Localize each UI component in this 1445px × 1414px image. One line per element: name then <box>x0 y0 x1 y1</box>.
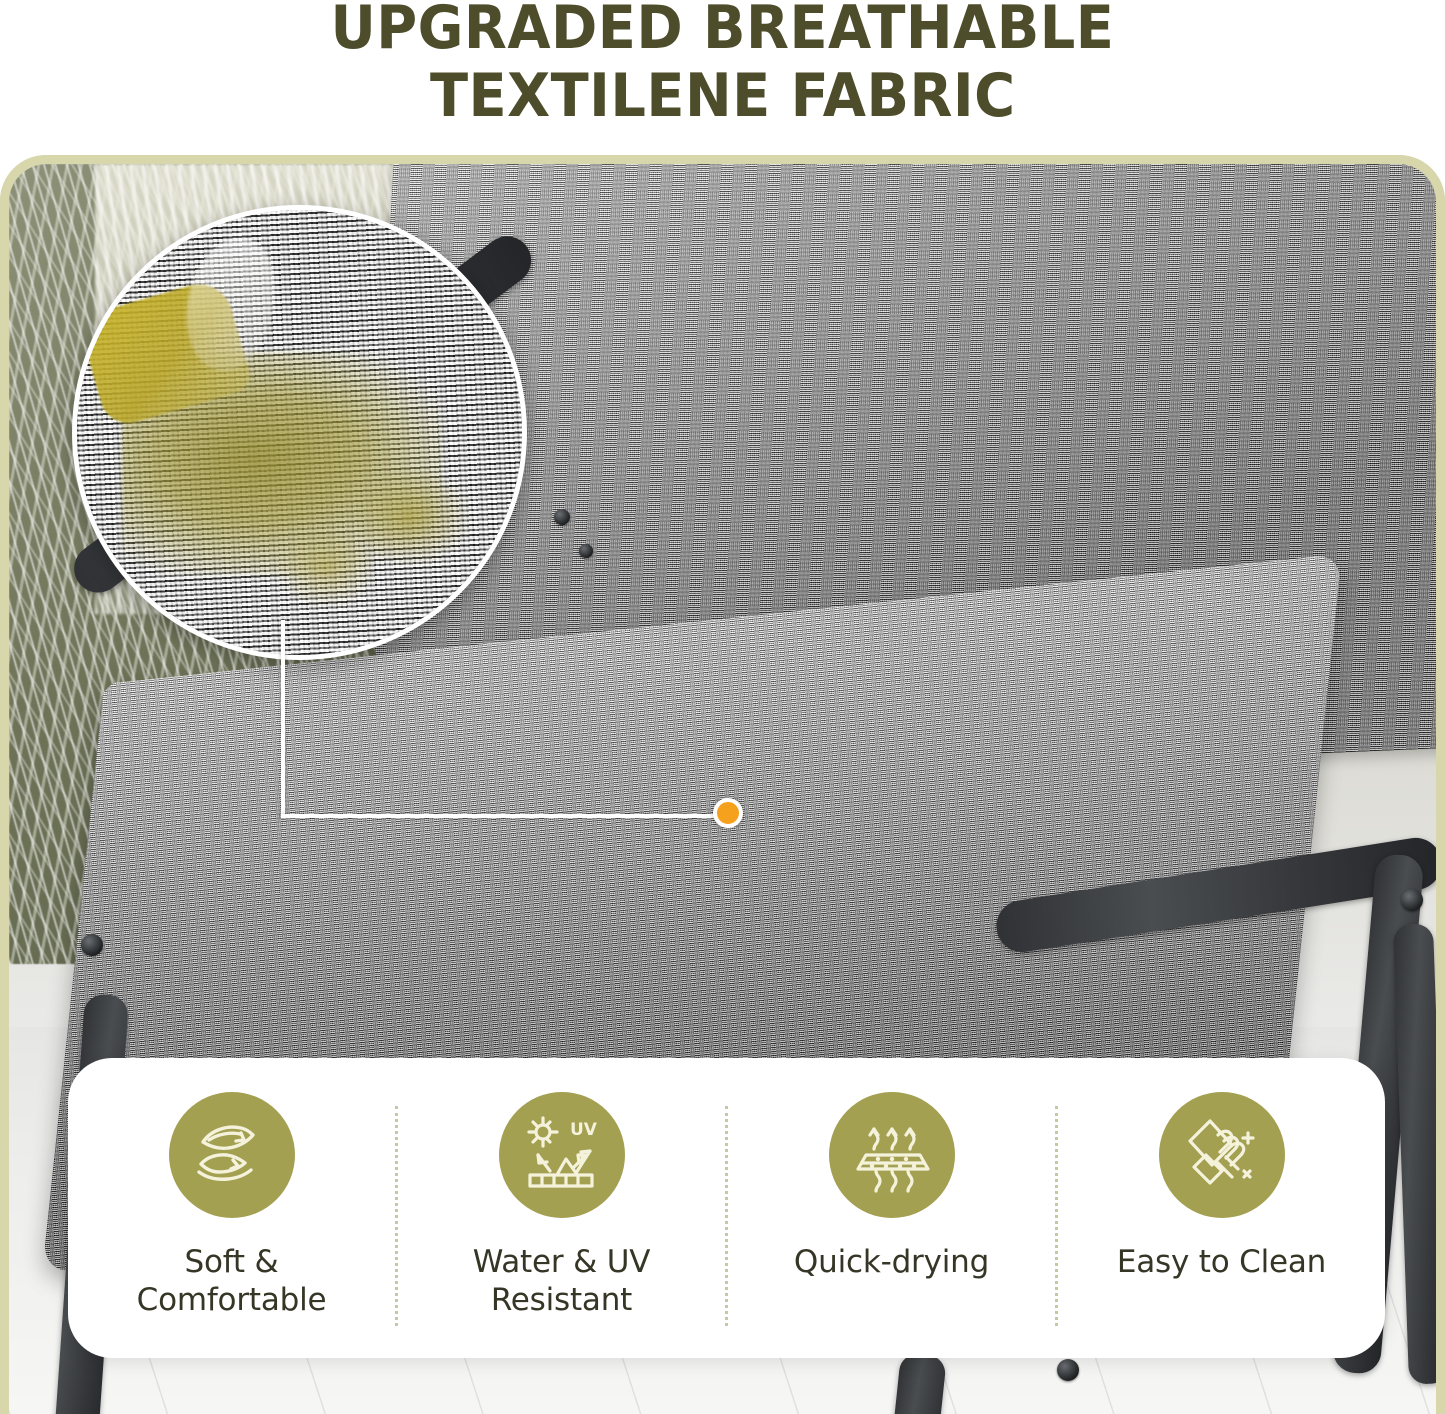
headline-line-1: UPGRADED BREATHABLE <box>331 0 1115 59</box>
frame-rivet <box>579 544 593 558</box>
feature-label: Easy to Clean <box>1117 1244 1326 1282</box>
feature-soft-comfortable: Soft &Comfortable <box>68 1058 395 1358</box>
frame-rivet <box>554 509 570 525</box>
feature-label: Quick-drying <box>794 1244 989 1282</box>
headline-block: UPGRADED BREATHABLE TEXTILENE FABRIC <box>0 0 1445 152</box>
hand-holding-feather-icon <box>169 1092 295 1218</box>
headline-line-2: TEXTILENE FABRIC <box>430 66 1015 127</box>
sun-uv-shield-icon: UV <box>499 1092 625 1218</box>
breathable-mesh-airflow-icon <box>829 1092 955 1218</box>
feature-highlights-card: Soft &Comfortable UV Water & UVResistant <box>68 1058 1385 1358</box>
fabric-closeup-magnifier <box>72 205 527 660</box>
frame-rivet <box>81 934 103 956</box>
feature-water-uv-resistant: UV Water & UVResistant <box>398 1058 725 1358</box>
svg-text:UV: UV <box>570 1120 598 1140</box>
feature-label: Water & UVResistant <box>473 1244 650 1320</box>
callout-line-horizontal <box>281 814 731 818</box>
frame-rivet <box>1057 1359 1079 1381</box>
callout-point-marker <box>713 798 743 828</box>
hand-wiping-cloth-sparkle-icon <box>1159 1092 1285 1218</box>
liquid-splash-bottom <box>277 530 375 606</box>
feature-easy-to-clean: Easy to Clean <box>1058 1058 1385 1358</box>
frame-rivet <box>1401 889 1423 911</box>
feature-quick-drying: Quick-drying <box>728 1058 1055 1358</box>
callout-line-vertical <box>281 620 285 818</box>
feature-label: Soft &Comfortable <box>137 1244 327 1320</box>
